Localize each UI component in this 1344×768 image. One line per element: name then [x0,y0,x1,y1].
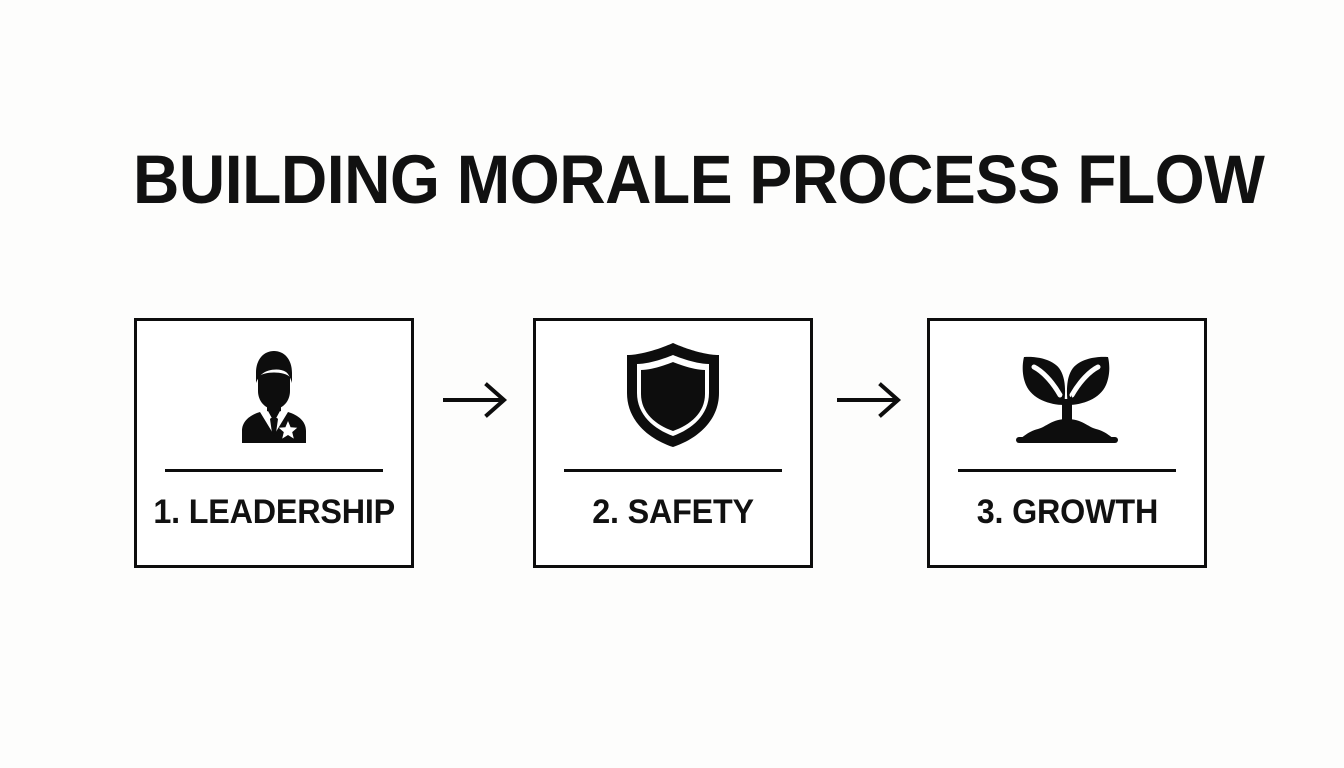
arrow-right-icon [439,380,519,420]
step-icon-container [930,321,1204,469]
shield-icon [621,339,725,451]
step-label-safety: 2. SAFETY [592,493,754,531]
process-flow-row: 1. LEADERSHIP [134,318,1208,568]
sprout-growth-icon [1012,343,1122,447]
step-divider [165,469,383,472]
step-divider [564,469,782,472]
step-divider [958,469,1176,472]
slide-canvas: BUILDING MORALE PROCESS FLOW [0,0,1344,768]
step-label-growth: 3. GROWTH [976,493,1157,531]
arrow-right-icon [833,380,913,420]
step-icon-container [536,321,810,469]
leader-person-star-icon [222,343,326,447]
step-card-leadership[interactable]: 1. LEADERSHIP [134,318,414,568]
step-label-leadership: 1. LEADERSHIP [153,493,395,531]
step-icon-container [137,321,411,469]
step-card-growth[interactable]: 3. GROWTH [927,318,1207,568]
page-title: BUILDING MORALE PROCESS FLOW [133,142,1264,218]
step-card-safety[interactable]: 2. SAFETY [533,318,813,568]
